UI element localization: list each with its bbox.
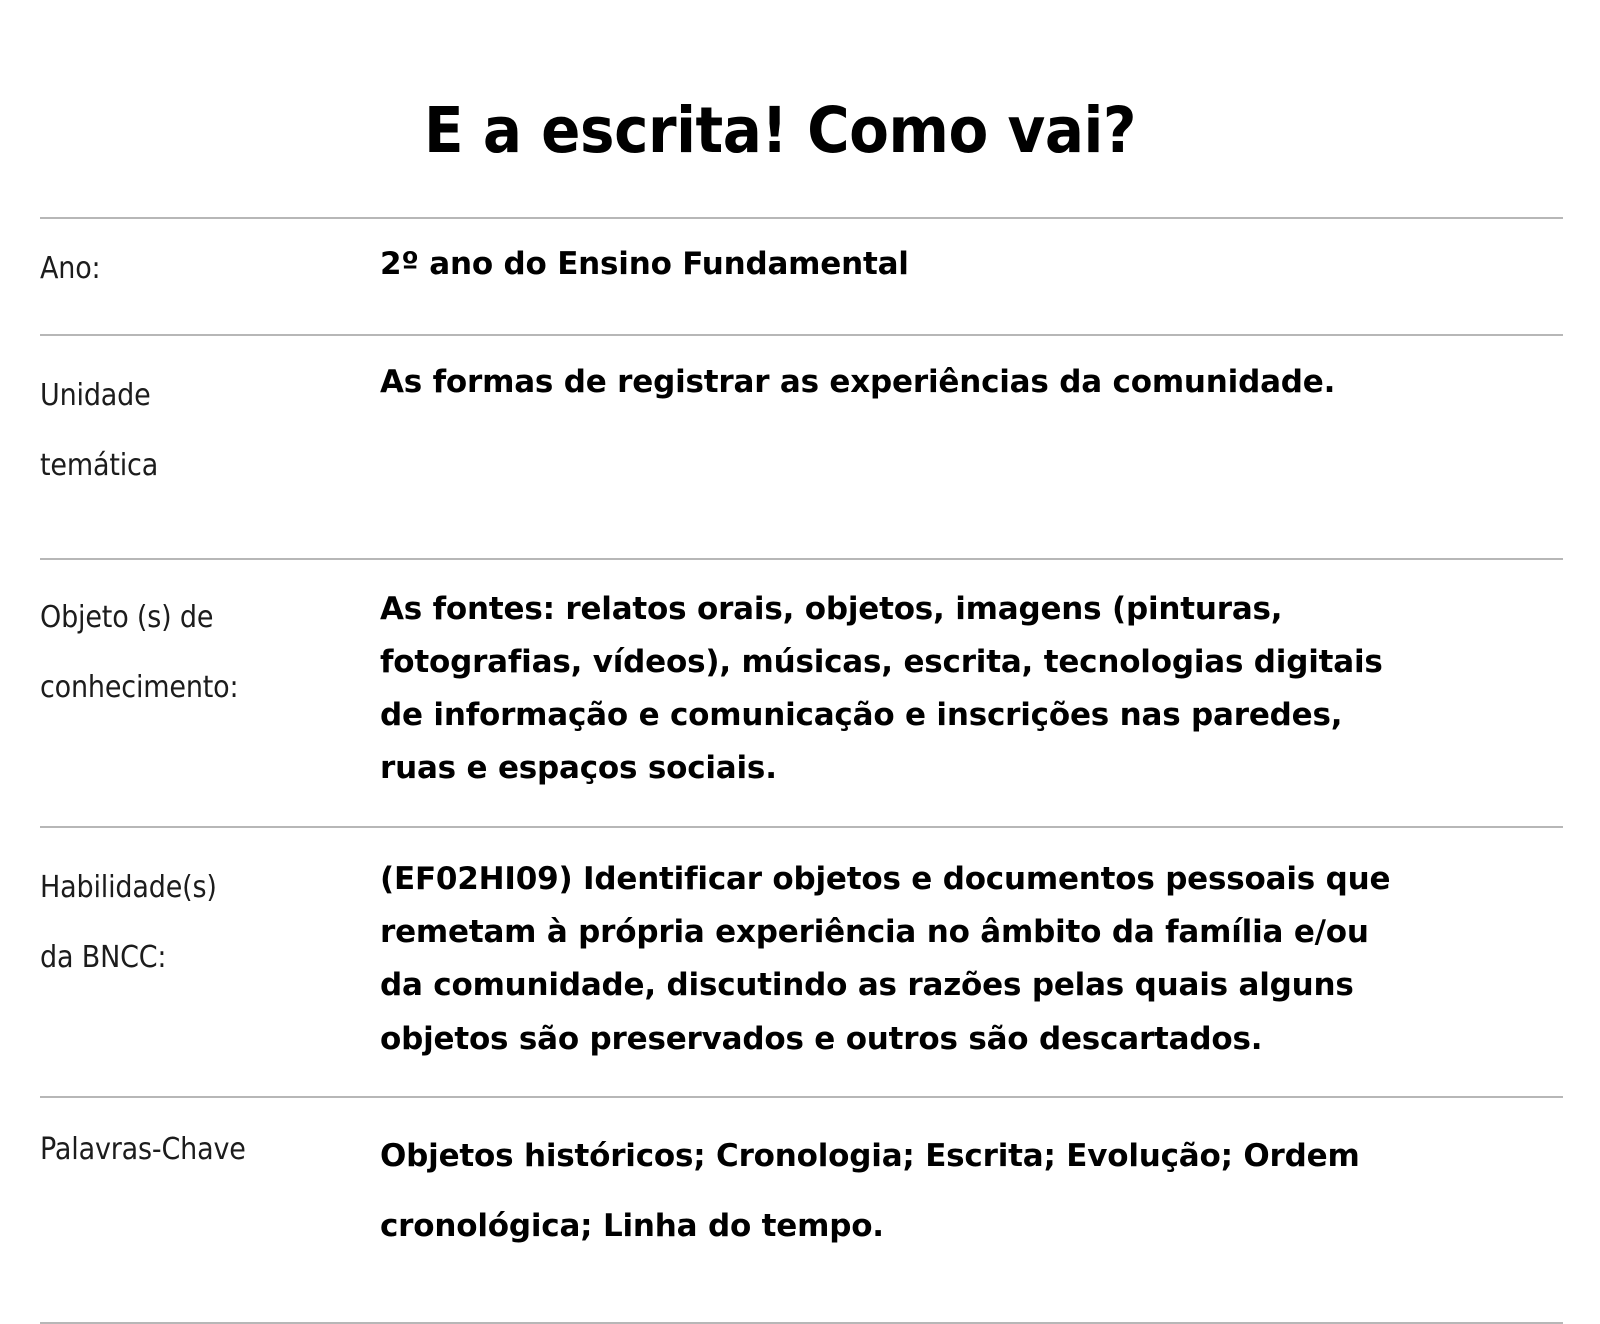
value-line: fotografias, vídeos), músicas, escrita, … xyxy=(380,636,1543,689)
row-value-ano: 2º ano do Ensino Fundamental xyxy=(380,218,1563,335)
row-label-objeto-conhecimento: Objeto (s) de conhecimento: xyxy=(40,559,346,827)
page-title: E a escrita! Como vai? xyxy=(424,98,1136,164)
label-line: da BNCC: xyxy=(40,923,333,994)
row-value-objeto-conhecimento: As fontes: relatos orais, objetos, image… xyxy=(380,559,1563,827)
table-row: Objeto (s) de conhecimento: As fontes: r… xyxy=(40,559,1563,827)
value-line: ruas e espaços sociais. xyxy=(380,742,1543,795)
table-row: Habilidade(s) da BNCC: (EF02HI09) Identi… xyxy=(40,827,1563,1097)
label-line: Palavras-Chave xyxy=(40,1124,333,1175)
label-line: conhecimento: xyxy=(40,653,333,724)
row-label-unidade-tematica: Unidade temática xyxy=(40,335,346,559)
row-value-habilidades-bncc: (EF02HI09) Identificar objetos e documen… xyxy=(380,827,1563,1097)
lesson-info-table-body: Ano: 2º ano do Ensino Fundamental Unidad… xyxy=(40,218,1563,1323)
lesson-plan-page: E a escrita! Como vai? Ano: 2º ano do En… xyxy=(0,0,1600,1200)
value-line: As formas de registrar as experiências d… xyxy=(380,361,1543,404)
value-line: As fontes: relatos orais, objetos, image… xyxy=(380,583,1543,636)
label-line: Unidade xyxy=(40,361,333,432)
row-value-unidade-tematica: As formas de registrar as experiências d… xyxy=(380,335,1563,559)
value-line: da comunidade, discutindo as razões pela… xyxy=(380,959,1543,1012)
lesson-info-table: Ano: 2º ano do Ensino Fundamental Unidad… xyxy=(40,217,1563,1324)
table-row: Palavras-Chave Objetos históricos; Crono… xyxy=(40,1097,1563,1323)
row-label-habilidades-bncc: Habilidade(s) da BNCC: xyxy=(40,827,346,1097)
value-line: 2º ano do Ensino Fundamental xyxy=(380,243,1543,286)
value-line: (EF02HI09) Identificar objetos e documen… xyxy=(380,853,1543,906)
row-label-palavras-chave: Palavras-Chave xyxy=(40,1097,346,1323)
value-line: remetam à própria experiência no âmbito … xyxy=(380,906,1543,959)
table-row: Unidade temática As formas de registrar … xyxy=(40,335,1563,559)
value-line: objetos são preservados e outros são des… xyxy=(380,1013,1543,1066)
label-line: Objeto (s) de xyxy=(40,583,333,654)
row-label-ano: Ano: xyxy=(40,218,346,335)
label-line: Habilidade(s) xyxy=(40,853,333,924)
label-line: temática xyxy=(40,431,333,502)
value-line: Objetos históricos; Cronologia; Escrita;… xyxy=(380,1122,1543,1192)
label-line: Ano: xyxy=(40,243,333,294)
title-container: E a escrita! Como vai? xyxy=(0,0,1600,217)
value-line: cronológica; Linha do tempo. xyxy=(380,1192,1543,1262)
table-row: Ano: 2º ano do Ensino Fundamental xyxy=(40,218,1563,335)
value-line: de informação e comunicação e inscrições… xyxy=(380,689,1543,742)
row-value-palavras-chave: Objetos históricos; Cronologia; Escrita;… xyxy=(380,1097,1563,1323)
